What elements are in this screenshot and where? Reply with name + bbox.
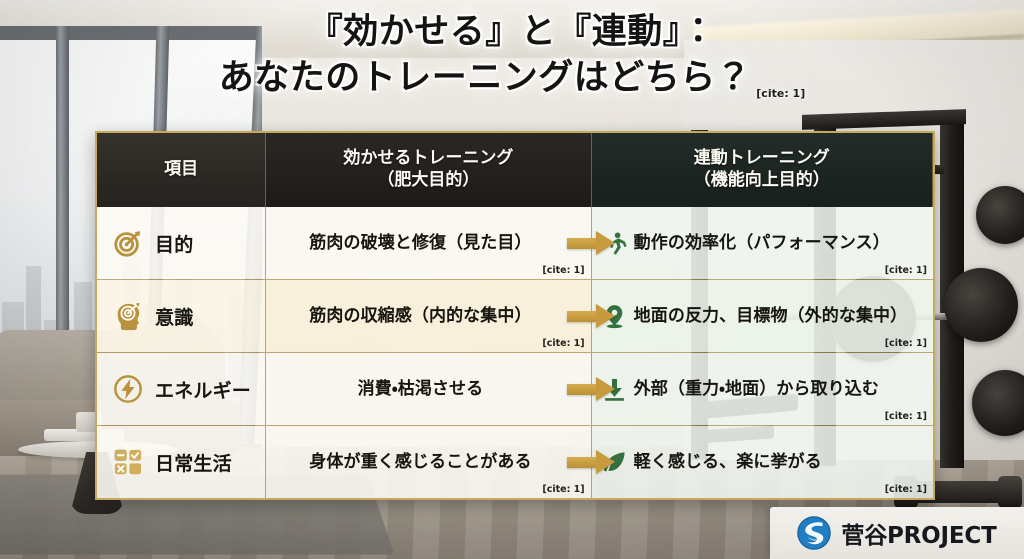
row-rendou-cell: 動作の効率化（パフォーマンス） [cite: 1]	[592, 207, 933, 279]
row-kikaseru-citation: [cite: 1]	[542, 265, 584, 276]
table-body: 目的 筋肉の破壊と修復（見た目） [cite: 1] 動作の効率化（パフォーマン…	[95, 207, 935, 500]
row-kikaseru-text: 筋肉の収縮感（内的な集中）	[299, 306, 557, 326]
table-header-cell-item: 項目	[97, 133, 266, 207]
brand-logo-text: 菅谷PROJECT	[841, 516, 996, 550]
row-rendou-cell: 外部（重力・地面）から取り込む [cite: 1]	[592, 353, 933, 425]
table-row: エネルギー 消費・枯渇させる 外部（重力・地面）から取り込む [cite: 1]	[97, 353, 933, 426]
row-rendou-text: 外部（重力・地面）から取り込む	[634, 379, 879, 399]
row-kikaseru-citation: [cite: 1]	[542, 338, 584, 349]
title-line-2: あなたのトレーニングはどちら？	[219, 58, 752, 98]
header-item-main: 項目	[164, 159, 198, 179]
head-target-icon	[113, 301, 143, 331]
title-line-2-wrap: あなたのトレーニングはどちら？[cite: 1]	[0, 56, 1024, 102]
row-kikaseru-text: 身体が重く感じることがある	[299, 452, 557, 472]
comparison-table: 項目 効かせるトレーニング （肥大目的） 連動トレーニング （機能向上目的）	[95, 131, 935, 500]
title-line-1: 『効かせる』と『連動』：	[0, 10, 1024, 56]
slide-canvas: 『効かせる』と『連動』： あなたのトレーニングはどちら？[cite: 1] 項目…	[0, 0, 1024, 559]
row-rendou-citation: [cite: 1]	[885, 265, 927, 276]
row-rendou-text: 動作の効率化（パフォーマンス）	[634, 233, 890, 253]
header-rendou-sub: （機能向上目的）	[694, 170, 830, 192]
row-kikaseru-cell: 身体が重く感じることがある [cite: 1]	[266, 426, 591, 498]
row-rendou-text: 軽く感じる、楽に挙がる	[634, 452, 822, 472]
row-item-label: エネルギー	[155, 376, 251, 403]
table-row: 意識 筋肉の収縮感（内的な集中） [cite: 1] 地面の反力、目標物（外的な…	[97, 280, 933, 353]
table-header-row: 項目 効かせるトレーニング （肥大目的） 連動トレーニング （機能向上目的）	[95, 131, 935, 207]
row-item-label: 目的	[155, 230, 193, 257]
row-kikaseru-cell: 筋肉の破壊と修復（見た目） [cite: 1]	[266, 207, 591, 279]
page-title: 『効かせる』と『連動』： あなたのトレーニングはどちら？[cite: 1]	[0, 10, 1024, 101]
right-arrow-icon	[567, 231, 615, 255]
row-item-cell: 日常生活	[97, 426, 266, 498]
sugaya-swirl-logo-icon	[797, 516, 831, 550]
row-rendou-citation: [cite: 1]	[885, 338, 927, 349]
row-item-label: 意識	[155, 303, 193, 330]
row-rendou-cell: 地面の反力、目標物（外的な集中） [cite: 1]	[592, 280, 933, 352]
row-kikaseru-text: 消費・枯渇させる	[348, 379, 510, 399]
right-arrow-icon	[567, 377, 615, 401]
row-item-label: 日常生活	[155, 449, 232, 476]
table-header-cell-rendou: 連動トレーニング （機能向上目的）	[592, 133, 933, 207]
title-citation: [cite: 1]	[751, 87, 805, 100]
row-rendou-citation: [cite: 1]	[885, 411, 927, 422]
row-kikaseru-cell: 消費・枯渇させる	[266, 353, 591, 425]
row-item-cell: 目的	[97, 207, 266, 279]
right-arrow-icon	[567, 450, 615, 474]
row-kikaseru-cell: 筋肉の収縮感（内的な集中） [cite: 1]	[266, 280, 591, 352]
header-kikaseru-sub: （肥大目的）	[343, 170, 513, 192]
target-icon	[113, 228, 143, 258]
row-rendou-citation: [cite: 1]	[885, 484, 927, 495]
row-rendou-cell: 軽く感じる、楽に挙がる [cite: 1]	[592, 426, 933, 498]
table-header-cell-kikaseru: 効かせるトレーニング （肥大目的）	[266, 133, 591, 207]
row-item-cell: エネルギー	[97, 353, 266, 425]
row-kikaseru-citation: [cite: 1]	[542, 484, 584, 495]
table-row: 日常生活 身体が重く感じることがある [cite: 1] 軽く感じる、楽に挙がる…	[97, 426, 933, 498]
checklist-grid-icon	[113, 447, 143, 477]
row-kikaseru-text: 筋肉の破壊と修復（見た目）	[299, 233, 557, 253]
header-kikaseru-main: 効かせるトレーニング	[343, 148, 513, 168]
lightning-bolt-icon	[113, 374, 143, 404]
row-item-cell: 意識	[97, 280, 266, 352]
row-rendou-text: 地面の反力、目標物（外的な集中）	[634, 306, 908, 326]
table-row: 目的 筋肉の破壊と修復（見た目） [cite: 1] 動作の効率化（パフォーマン…	[97, 207, 933, 280]
right-arrow-icon	[567, 304, 615, 328]
header-rendou-main: 連動トレーニング	[694, 148, 830, 168]
brand-logo: 菅谷PROJECT	[770, 507, 1024, 559]
